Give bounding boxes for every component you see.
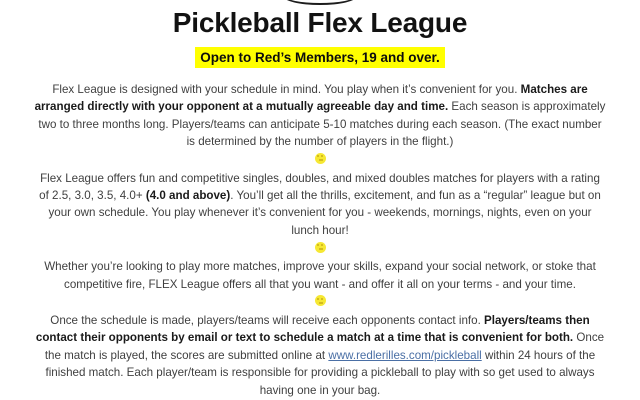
flyer-page: Pickleball Flex League Open to Red’s Mem…: [0, 0, 640, 400]
paragraph-4: Once the schedule is made, players/teams…: [34, 312, 606, 399]
separator-1: [34, 151, 606, 167]
pickleball-icon: [315, 242, 326, 253]
pickleball-icon: [315, 295, 326, 306]
subtitle-container: Open to Red’s Members, 19 and over.: [0, 47, 640, 68]
separator-2: [34, 239, 606, 255]
paragraph-1: Flex League is designed with your schedu…: [34, 81, 606, 151]
pickleball-scores-link[interactable]: www.redlerilles.com/pickleball: [328, 349, 481, 362]
body-content: Flex League is designed with your schedu…: [34, 81, 606, 400]
separator-3: [34, 293, 606, 309]
page-title: Pickleball Flex League: [0, 0, 640, 39]
pickleball-icon: [315, 153, 326, 164]
paragraph-2-bold: (4.0 and above): [146, 189, 230, 202]
paragraph-2: Flex League offers fun and competitive s…: [34, 170, 606, 240]
paragraph-4-lead: Once the schedule is made, players/teams…: [50, 314, 484, 327]
subtitle-highlight: Open to Red’s Members, 19 and over.: [195, 47, 445, 68]
paragraph-1-lead: Flex League is designed with your schedu…: [52, 83, 520, 96]
paragraph-3: Whether you’re looking to play more matc…: [34, 258, 606, 293]
